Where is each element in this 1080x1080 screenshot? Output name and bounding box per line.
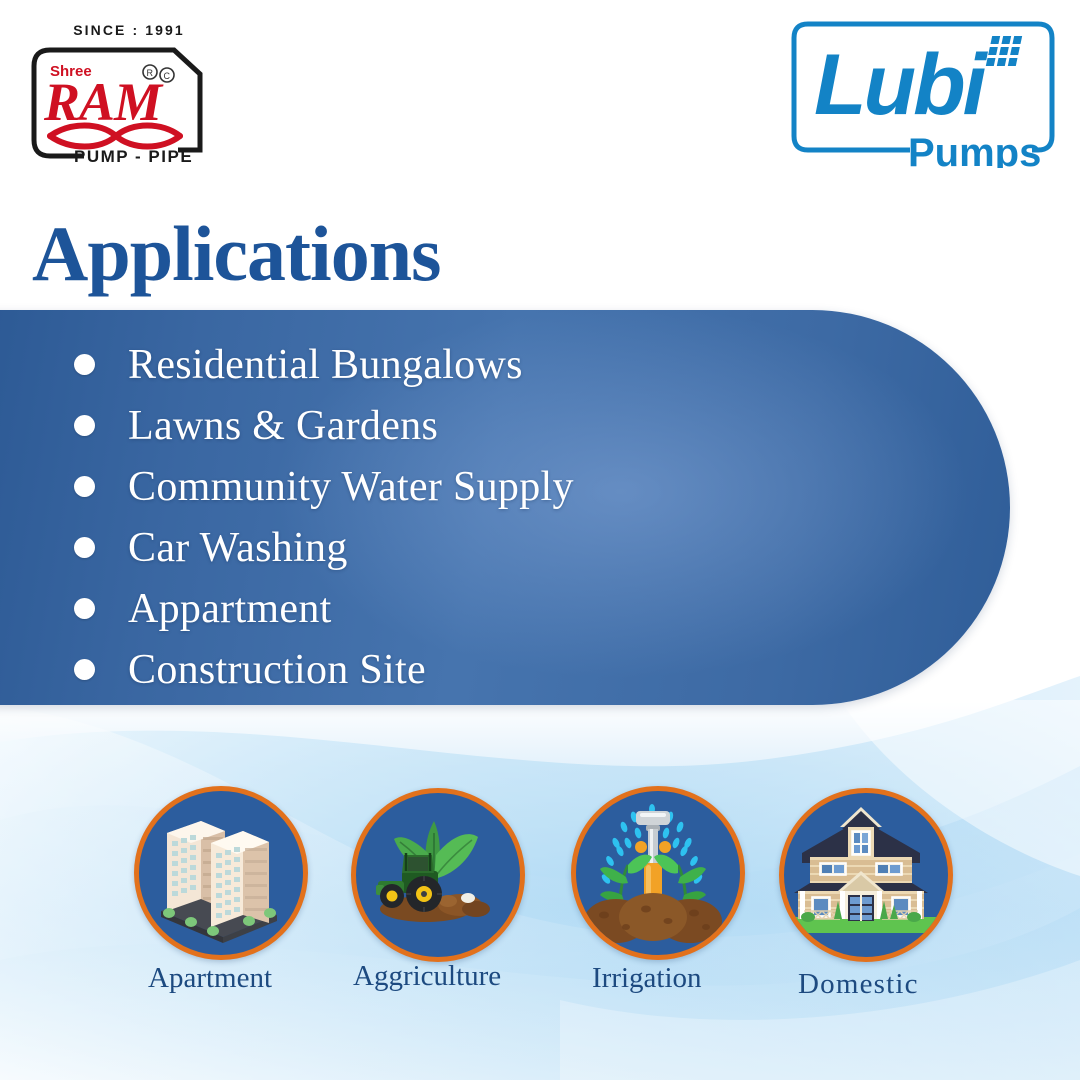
soil-mounds [584,893,722,943]
list-item-label: Residential Bungalows [128,341,523,389]
icon-circle-irrigation [571,786,745,960]
apartment-buildings-icon [139,791,293,945]
list-item-label: Construction Site [128,646,426,694]
list-item: Appartment [74,578,834,639]
icon-circle-aggriculture [351,788,525,962]
since-text: SINCE : 1991 [54,22,204,38]
bullet-dot-icon [74,476,95,497]
list-item: Lawns & Gardens [74,395,834,456]
page-title: Applications [32,215,440,293]
list-item-label: Appartment [128,585,332,633]
bullet-dot-icon [74,537,95,558]
bullet-dot-icon [74,659,95,680]
icon-label-apartment: Apartment [148,962,272,995]
applications-list: Residential Bungalows Lawns & Gardens Co… [74,334,834,700]
tractor-crop-icon [356,793,510,947]
icon-circle-domestic [779,788,953,962]
icon-label-domestic: Domestic [798,968,919,1001]
list-item-label: Lawns & Gardens [128,402,438,450]
bullet-dot-icon [74,354,95,375]
bullet-dot-icon [74,598,95,619]
poster-canvas: SINCE : 1991 Shree RAM R C PUMP - PIPE L… [0,0,1080,1080]
tractor [376,853,442,912]
lubi-dot-grid [986,36,1022,66]
list-item: Residential Bungalows [74,334,834,395]
icon-label-aggriculture: Aggriculture [353,960,501,993]
shree-ram-logo: SINCE : 1991 Shree RAM R C PUMP - PIPE [18,22,218,168]
application-icons-row [0,786,1080,966]
copyright-mark: C [164,71,171,81]
lubi-subtitle: Pumps [908,131,1041,168]
list-item: Construction Site [74,639,834,700]
house-icon [784,793,938,947]
registered-mark: R [147,68,154,78]
lubi-pumps-logo: Lubi Pumps [788,18,1058,168]
list-item: Community Water Supply [74,456,834,517]
lubi-wordmark: Lubi [814,37,989,133]
icon-circle-apartment [134,786,308,960]
list-item-label: Community Water Supply [128,463,574,511]
bullet-dot-icon [74,415,95,436]
icon-label-irrigation: Irrigation [592,962,702,995]
list-item: Car Washing [74,517,834,578]
pump-pipe-text: PUMP - PIPE [74,147,193,162]
shree-ram-mark: Shree RAM R C PUMP - PIPE [28,44,208,162]
sprinkler-icon [576,791,730,945]
list-item-label: Car Washing [128,524,348,572]
